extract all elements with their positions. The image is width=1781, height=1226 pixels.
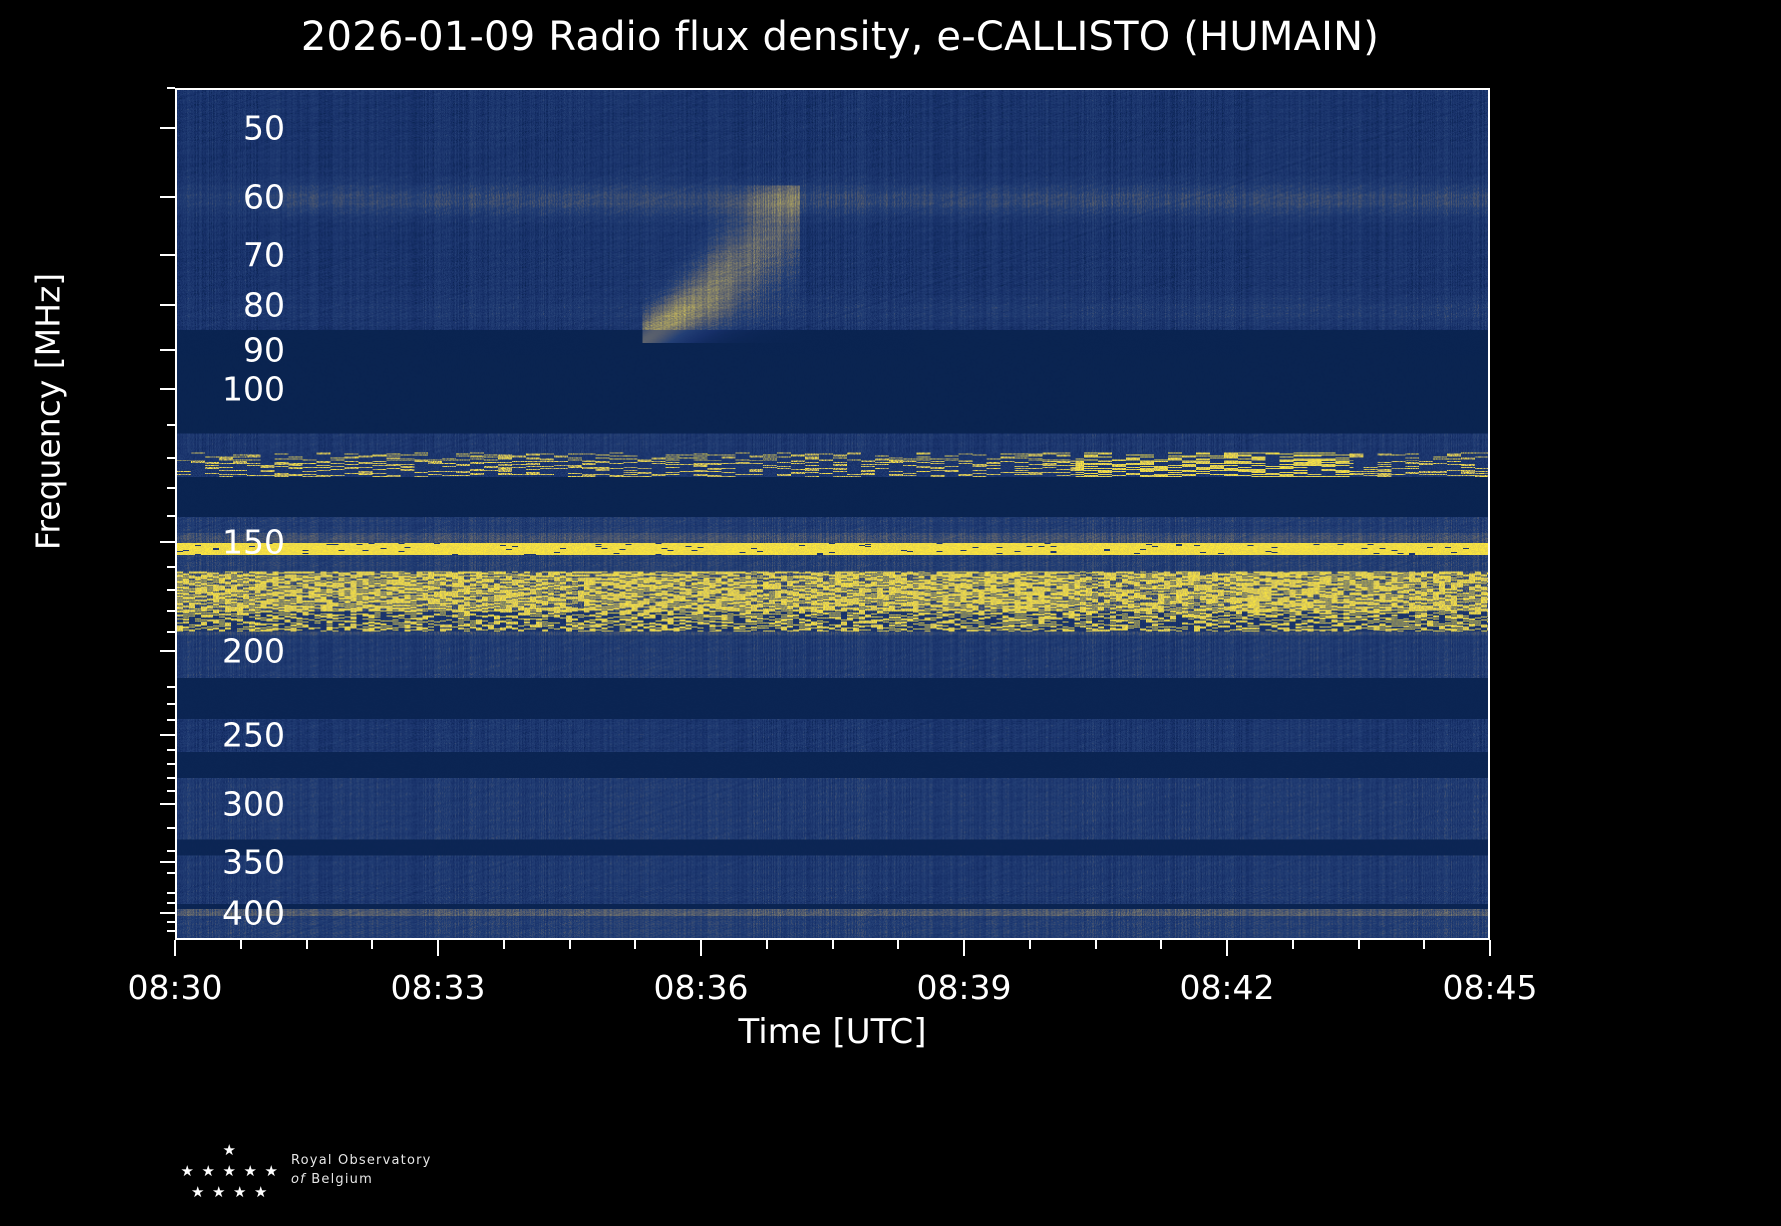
y-tick-mark (160, 803, 175, 805)
royal-observatory-logo: ★★★★★★★★★★ Royal Observatory of Belgium (178, 1143, 598, 1213)
x-minor-tick-mark (1423, 940, 1425, 949)
y-tick-label: 150 (25, 523, 285, 562)
x-minor-tick-mark (1292, 940, 1294, 949)
x-tick-label: 08:45 (1442, 968, 1537, 1007)
star-icon: ★ (202, 1164, 215, 1179)
x-tick-label: 08:36 (653, 968, 748, 1007)
x-minor-tick-mark (897, 940, 899, 949)
x-tick-label: 08:33 (390, 968, 485, 1007)
y-minor-tick-mark (167, 749, 175, 751)
logo-of: of (291, 1172, 306, 1187)
x-tick-mark (1489, 940, 1491, 956)
x-minor-tick-mark (1160, 940, 1162, 949)
x-tick-label: 08:42 (1179, 968, 1274, 1007)
y-minor-tick-mark (167, 457, 175, 459)
x-tick-mark (437, 940, 439, 956)
x-tick-label: 08:30 (127, 968, 222, 1007)
star-icon: ★ (244, 1164, 257, 1179)
y-minor-tick-mark (167, 850, 175, 852)
y-tick-mark (160, 127, 175, 129)
y-minor-tick-mark (167, 921, 175, 923)
x-tick-mark (963, 940, 965, 956)
y-minor-tick-mark (167, 827, 175, 829)
x-minor-tick-mark (569, 940, 571, 949)
y-minor-tick-mark (167, 763, 175, 765)
y-tick-mark (160, 304, 175, 306)
y-tick-label: 200 (25, 632, 285, 671)
y-minor-tick-mark (167, 424, 175, 426)
y-minor-tick-mark (167, 686, 175, 688)
x-minor-tick-mark (1358, 940, 1360, 949)
spectrogram-canvas (177, 90, 1488, 938)
y-tick-label: 250 (25, 716, 285, 755)
x-minor-tick-mark (1095, 940, 1097, 949)
y-tick-label: 90 (25, 330, 285, 369)
spectrogram-image (177, 90, 1488, 938)
y-minor-tick-mark (167, 487, 175, 489)
spectrogram-plot-area (175, 88, 1490, 940)
page-title: 2026-01-09 Radio flux density, e-CALLIST… (0, 14, 1680, 60)
y-minor-tick-mark (167, 515, 175, 517)
y-minor-tick-mark (167, 610, 175, 612)
star-icon: ★ (223, 1164, 236, 1179)
y-tick-mark (160, 912, 175, 914)
y-tick-label: 350 (25, 843, 285, 882)
star-icon: ★ (265, 1164, 278, 1179)
x-minor-tick-mark (371, 940, 373, 949)
x-minor-tick-mark (832, 940, 834, 949)
x-minor-tick-mark (1029, 940, 1031, 949)
star-icon: ★ (212, 1185, 225, 1200)
y-minor-tick-mark (167, 87, 175, 89)
y-tick-label: 60 (25, 177, 285, 216)
x-axis-label: Time [UTC] (175, 1012, 1490, 1052)
x-minor-tick-mark (766, 940, 768, 949)
logo-stars-icon: ★★★★★★★★★★ (178, 1143, 288, 1205)
y-minor-tick-mark (167, 902, 175, 904)
y-tick-mark (160, 254, 175, 256)
star-icon: ★ (191, 1185, 204, 1200)
y-minor-tick-mark (167, 566, 175, 568)
x-tick-mark (700, 940, 702, 956)
y-minor-tick-mark (167, 790, 175, 792)
logo-text: Royal Observatory of Belgium (291, 1151, 432, 1189)
star-icon: ★ (223, 1143, 236, 1158)
y-tick-mark (160, 734, 175, 736)
y-tick-mark (160, 196, 175, 198)
y-minor-tick-mark (167, 892, 175, 894)
logo-line2: of Belgium (291, 1170, 432, 1189)
y-tick-label: 100 (25, 370, 285, 409)
x-tick-mark (1226, 940, 1228, 956)
y-minor-tick-mark (167, 703, 175, 705)
logo-line1: Royal Observatory (291, 1151, 432, 1170)
x-minor-tick-mark (240, 940, 242, 949)
x-tick-label: 08:39 (916, 968, 1011, 1007)
y-tick-label: 70 (25, 235, 285, 274)
star-icon: ★ (181, 1164, 194, 1179)
y-minor-tick-mark (167, 930, 175, 932)
logo-belgium: Belgium (311, 1172, 373, 1187)
y-minor-tick-mark (167, 631, 175, 633)
y-tick-mark (160, 388, 175, 390)
star-icon: ★ (254, 1185, 267, 1200)
y-tick-label: 80 (25, 286, 285, 325)
x-minor-tick-mark (503, 940, 505, 949)
x-minor-tick-mark (306, 940, 308, 949)
y-tick-label: 50 (25, 108, 285, 147)
star-icon: ★ (233, 1185, 246, 1200)
y-tick-label: 400 (25, 893, 285, 932)
y-tick-label: 300 (25, 785, 285, 824)
y-minor-tick-mark (167, 719, 175, 721)
x-minor-tick-mark (634, 940, 636, 949)
y-minor-tick-mark (167, 777, 175, 779)
y-tick-mark (160, 861, 175, 863)
x-tick-mark (174, 940, 176, 956)
y-tick-mark (160, 349, 175, 351)
y-tick-mark (160, 541, 175, 543)
y-minor-tick-mark (167, 872, 175, 874)
y-tick-mark (160, 650, 175, 652)
y-minor-tick-mark (167, 589, 175, 591)
